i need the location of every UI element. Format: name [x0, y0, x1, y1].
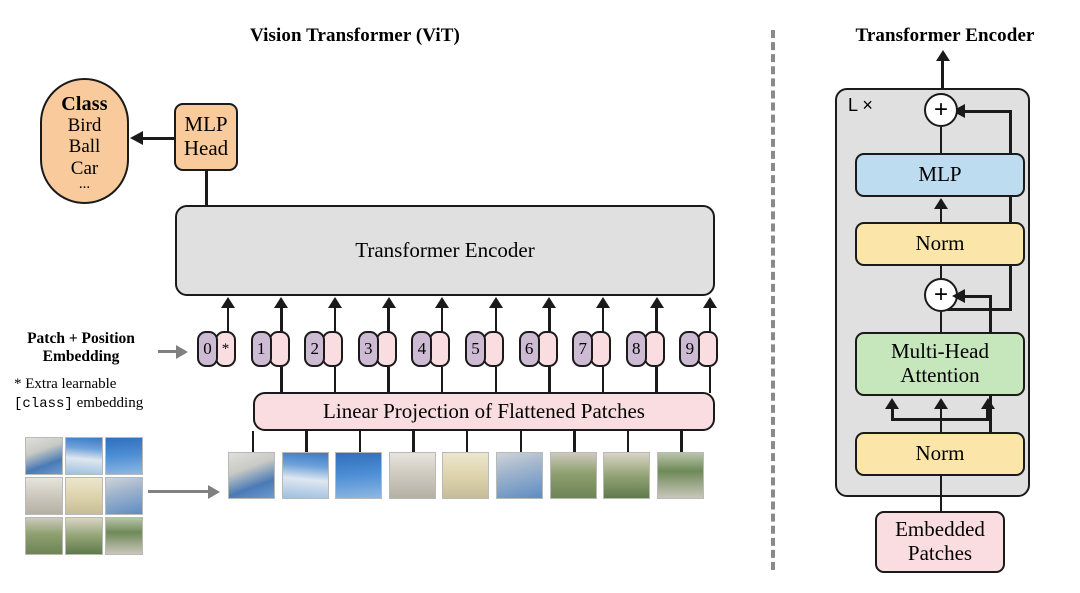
- token-9: 9: [679, 331, 718, 367]
- embedding-label-line2: Embedding: [8, 348, 154, 366]
- token-2-to-encoder-line: [334, 307, 337, 332]
- token-1-number: 1: [251, 331, 272, 367]
- embedded-to-norm-line: [940, 476, 943, 512]
- projection-to-patch-1-dome-line: [252, 431, 255, 453]
- mha-line1: Multi-Head: [891, 340, 989, 364]
- mlphead-to-encoder-line: [205, 171, 208, 207]
- token-6-position: [537, 331, 558, 367]
- norm-top-box: Norm: [855, 222, 1025, 266]
- source-patch-9-lawn: [105, 517, 143, 555]
- linear-projection-label: Linear Projection of Flattened Patches: [323, 400, 645, 424]
- qkv-arrowhead-left: [885, 398, 899, 409]
- token-5-to-encoder-line: [495, 307, 498, 332]
- token-4-to-encoder-arrowhead: [435, 297, 449, 308]
- transformer-encoder-box: Transformer Encoder: [175, 205, 715, 296]
- transformer-encoder-label: Transformer Encoder: [355, 239, 534, 263]
- residual-add-top: +: [924, 93, 958, 127]
- patch-9-lawn: [657, 452, 704, 499]
- embedding-label-line1: Patch + Position: [8, 330, 154, 348]
- token-4-to-projection-line: [441, 367, 444, 393]
- token-7-to-encoder-line: [602, 307, 605, 332]
- source-to-patches-arrowhead: [208, 485, 220, 499]
- token-6-number: 6: [519, 331, 540, 367]
- mlp-box-label: MLP: [918, 163, 961, 187]
- left-panel-title: Vision Transformer (ViT): [185, 25, 525, 47]
- token-1: 1: [251, 331, 290, 367]
- residual-add-bottom-symbol: +: [934, 283, 948, 307]
- token-6-to-projection-line: [548, 367, 551, 393]
- footnote-line2: [class] embedding: [14, 394, 194, 414]
- norm-bottom-box: Norm: [855, 432, 1025, 476]
- norm-top-label: Norm: [916, 232, 965, 256]
- embedding-label-arrowhead: [176, 345, 188, 359]
- patch-3-sky: [335, 452, 382, 499]
- token-0-position: *: [215, 331, 236, 367]
- repeat-count-label: L ×: [848, 95, 873, 116]
- mlp-box: MLP: [855, 153, 1025, 197]
- token-0-to-encoder-line: [227, 307, 230, 332]
- projection-to-patch-8-garden-line: [627, 431, 630, 453]
- token-0-number: 0: [197, 331, 218, 367]
- projection-to-patch-2-sky-tower-line: [305, 431, 308, 453]
- footnote-line1: * Extra learnable: [14, 375, 194, 394]
- token-2-number: 2: [304, 331, 325, 367]
- source-patch-4-facade: [25, 477, 63, 515]
- patch-1-dome: [228, 452, 275, 499]
- mlp-head-line1: MLP: [184, 113, 227, 137]
- mha-line2: Attention: [900, 364, 979, 388]
- patch-6-tower: [496, 452, 543, 499]
- token-6-to-encoder-line: [548, 307, 551, 332]
- token-6-to-encoder-arrowhead: [542, 297, 556, 308]
- token-0: 0*: [197, 331, 236, 367]
- token-3-number: 3: [358, 331, 379, 367]
- class-output-box: Class Bird Ball Car ...: [40, 78, 129, 204]
- patch-position-embedding-label: Patch + Position Embedding: [8, 330, 154, 367]
- encoder-output-arrowhead: [936, 50, 950, 61]
- qkv-arrowhead-right: [981, 398, 995, 409]
- token-7-to-projection-line: [602, 367, 605, 393]
- source-patch-2-sky-tower: [65, 437, 103, 475]
- residual-add-top-symbol: +: [934, 98, 948, 122]
- token-9-position: [697, 331, 718, 367]
- mlp-head-box: MLP Head: [174, 103, 238, 171]
- token-8: 8: [626, 331, 665, 367]
- source-patch-1-dome: [25, 437, 63, 475]
- projection-to-patch-7-street-line: [573, 431, 576, 453]
- source-patch-5-facade-dome: [65, 477, 103, 515]
- projection-to-patch-9-lawn-line: [680, 431, 683, 453]
- token-8-position: [644, 331, 665, 367]
- linear-projection-box: Linear Projection of Flattened Patches: [253, 392, 715, 431]
- token-4-position: [429, 331, 450, 367]
- source-patch-7-street: [25, 517, 63, 555]
- token-8-to-encoder-line: [655, 307, 658, 332]
- token-2: 2: [304, 331, 343, 367]
- token-7-position: [590, 331, 611, 367]
- projection-to-patch-3-sky-line: [359, 431, 362, 453]
- patch-5-facade-dome: [442, 452, 489, 499]
- attn-to-add-line: [940, 312, 943, 334]
- footnote-class-token: [class]: [14, 396, 73, 412]
- patch-2-sky-tower: [282, 452, 329, 499]
- token-8-number: 8: [626, 331, 647, 367]
- token-2-to-projection-line: [334, 367, 337, 393]
- projection-to-patch-6-tower-line: [520, 431, 523, 453]
- token-8-to-encoder-arrowhead: [650, 297, 664, 308]
- token-4-number: 4: [411, 331, 432, 367]
- multi-head-attention-box: Multi-Head Attention: [855, 332, 1025, 396]
- token-5: 5: [465, 331, 504, 367]
- token-5-position: [483, 331, 504, 367]
- token-3-to-projection-line: [387, 367, 390, 393]
- token-8-to-projection-line: [655, 367, 658, 393]
- class-item-ellipsis: ...: [79, 179, 90, 190]
- patch-8-garden: [603, 452, 650, 499]
- token-4: 4: [411, 331, 450, 367]
- token-3: 3: [358, 331, 397, 367]
- qkv-stem-right: [986, 408, 989, 420]
- patch-7-street: [550, 452, 597, 499]
- right-panel-title: Transformer Encoder: [820, 25, 1070, 47]
- token-5-to-encoder-arrowhead: [489, 297, 503, 308]
- token-1-to-encoder-arrowhead: [274, 297, 288, 308]
- token-1-to-projection-line: [280, 367, 283, 393]
- attn-residual-arrowhead: [952, 289, 965, 303]
- token-1-position: [269, 331, 290, 367]
- mlp-residual-top: [960, 110, 1012, 113]
- token-3-to-encoder-line: [387, 307, 390, 332]
- token-1-to-encoder-line: [280, 307, 283, 332]
- normtop-to-mlp-arrowhead: [934, 198, 948, 209]
- mlp-head-line2: Head: [184, 137, 228, 161]
- token-7-number: 7: [572, 331, 593, 367]
- extra-learnable-footnote: * Extra learnable [class] embedding: [14, 375, 194, 413]
- embedding-label-arrow-line: [158, 350, 178, 353]
- token-4-to-encoder-line: [441, 307, 444, 332]
- source-image-grid: [25, 437, 145, 557]
- token-5-to-projection-line: [495, 367, 498, 393]
- class-heading: Class: [61, 93, 108, 115]
- mlp-to-add-line: [940, 127, 943, 155]
- token-9-to-encoder-arrowhead: [703, 297, 717, 308]
- footnote-embedding-word: embedding: [73, 395, 143, 411]
- token-9-to-encoder-line: [709, 307, 712, 332]
- mlp-residual-bottom: [941, 308, 1011, 311]
- qkv-arrowhead-mid: [934, 398, 948, 409]
- encoder-output-line: [941, 58, 944, 90]
- token-2-to-encoder-arrowhead: [328, 297, 342, 308]
- token-0-to-encoder-arrowhead: [221, 297, 235, 308]
- class-item-ball: Ball: [69, 136, 101, 157]
- source-patch-3-sky: [105, 437, 143, 475]
- token-9-number: 9: [679, 331, 700, 367]
- panel-divider: [771, 30, 775, 570]
- token-7: 7: [572, 331, 611, 367]
- token-7-to-encoder-arrowhead: [596, 297, 610, 308]
- qkv-stem-left: [891, 408, 894, 420]
- norm-bottom-label: Norm: [916, 442, 965, 466]
- token-5-number: 5: [465, 331, 486, 367]
- token-3-position: [376, 331, 397, 367]
- mlp-residual-rail: [1009, 110, 1012, 311]
- token-9-to-projection-line: [709, 367, 712, 393]
- mlphead-to-class-arrowhead: [130, 131, 143, 145]
- projection-to-patch-4-facade-line: [412, 431, 415, 453]
- token-6: 6: [519, 331, 558, 367]
- source-patch-8-garden: [65, 517, 103, 555]
- class-item-bird: Bird: [68, 115, 102, 136]
- embedded-patches-line1: Embedded: [895, 518, 985, 542]
- token-3-to-encoder-arrowhead: [382, 297, 396, 308]
- embedded-patches-box: Embedded Patches: [875, 511, 1005, 573]
- projection-to-patch-5-facade-dome-line: [466, 431, 469, 453]
- mlphead-to-class-line: [142, 137, 174, 140]
- source-patch-6-tower: [105, 477, 143, 515]
- token-2-position: [322, 331, 343, 367]
- source-to-patches-line: [148, 490, 210, 493]
- patch-4-facade: [389, 452, 436, 499]
- embedded-patches-line2: Patches: [908, 542, 972, 566]
